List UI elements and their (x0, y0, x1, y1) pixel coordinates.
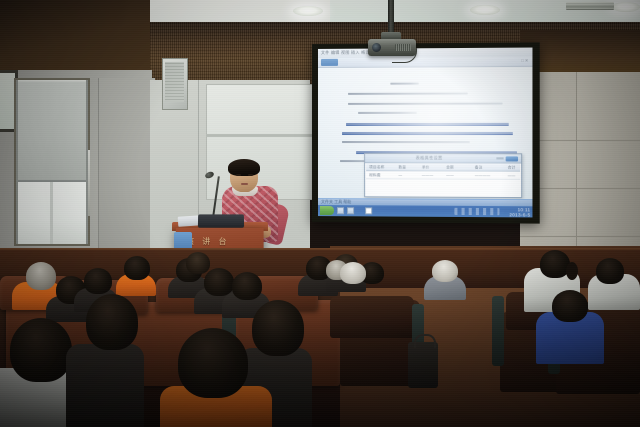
dialog-ok-button[interactable] (506, 156, 518, 162)
document-text-line (342, 141, 470, 144)
table-cell: 材料费 (369, 173, 380, 178)
attendee-head (340, 262, 366, 284)
document-toolbar[interactable] (318, 57, 532, 68)
table-cell: —— (508, 173, 516, 177)
laptop[interactable] (198, 214, 244, 227)
system-tray-icons[interactable] (454, 208, 499, 215)
downlight-icon (470, 5, 500, 15)
foreground-attendee-head (178, 328, 248, 398)
presenter-eye (248, 174, 253, 176)
foreground-attendee-head (10, 318, 72, 382)
presenter-mouth (241, 183, 248, 185)
taskbar-clock[interactable]: 10:11 2013-6-5 (509, 207, 530, 217)
attendee-head (84, 268, 112, 294)
taskbar-strip-label: 文件夹 工具 帮助 (321, 199, 351, 205)
left-wall-panel-secondary (98, 78, 155, 263)
wall-seam (576, 72, 577, 272)
attendee-head (186, 252, 210, 274)
projector-lens-icon (372, 43, 381, 52)
roller-blind[interactable] (18, 82, 86, 182)
foreground-attendee-head (252, 300, 304, 356)
table-col-header: 金额 (446, 165, 454, 170)
whiteboard-rail (206, 134, 314, 137)
attendee-head (204, 268, 234, 296)
attendee-ponytail (566, 262, 578, 280)
dialog-title: 表格属性设置 (416, 155, 443, 161)
table-properties-dialog[interactable]: 表格属性设置 项目名称 数量 单价 金额 备注 合计 材料费 — ——— —— … (364, 153, 522, 198)
document-text-line (358, 112, 417, 114)
attendee-head (552, 290, 588, 322)
table-cell: ———— (475, 173, 491, 177)
air-vent-icon (566, 2, 614, 10)
window-mullion (50, 182, 53, 244)
foreground-attendee-shoulders (66, 344, 144, 427)
presenter-hair (228, 159, 260, 176)
blind-cord[interactable] (88, 150, 90, 216)
handbag-strap (414, 334, 436, 348)
auditorium-seat[interactable] (330, 296, 414, 338)
document-text-line (346, 123, 509, 127)
wall-seam (520, 236, 640, 237)
attendee-head (232, 272, 262, 300)
table-col-header: 数量 (398, 165, 406, 170)
lecture-hall-photo: 文件 编辑 视图 插入 格式 工具 □ ✕ 表格属性设置 项目名称 数量 (0, 0, 640, 427)
whiteboard (206, 84, 314, 200)
start-button[interactable] (320, 206, 334, 215)
attendee-head (596, 258, 624, 284)
table-col-header: 单价 (422, 165, 430, 170)
projector-mount-pole (388, 0, 394, 34)
presenter-eye (236, 174, 241, 176)
seat-armrest (492, 296, 504, 366)
downlight-icon (293, 6, 323, 16)
attendee-head (124, 256, 150, 280)
document-active-tab[interactable] (321, 59, 338, 66)
table-col-header: 项目名称 (369, 165, 384, 170)
handbag (408, 342, 438, 388)
table-row[interactable] (366, 171, 520, 180)
attendee-head (432, 260, 458, 282)
projected-image: 文件 编辑 视图 插入 格式 工具 □ ✕ 表格属性设置 项目名称 数量 (318, 48, 532, 218)
document-text-line (348, 93, 468, 96)
table-cell: — (398, 173, 402, 177)
quicklaunch-icon[interactable] (347, 207, 354, 214)
table-cell: ——— (422, 173, 434, 177)
table-col-header: 合计 (508, 165, 516, 170)
window-controls[interactable]: □ ✕ (521, 58, 528, 63)
projection-screen: 文件 编辑 视图 插入 格式 工具 □ ✕ 表格属性设置 项目名称 数量 (312, 42, 540, 223)
speaker-grille-icon (165, 62, 184, 102)
clock-date: 2013-6-5 (509, 212, 530, 217)
podium-label: 演 讲 台 (186, 236, 260, 247)
foreground-attendee-head (86, 294, 138, 350)
taskbar-window-button[interactable] (365, 207, 372, 214)
table-col-header: 备注 (475, 165, 483, 170)
document-text-line (342, 132, 513, 135)
taskbar[interactable]: 文件夹 工具 帮助 10:11 2013-6-5 (318, 198, 532, 217)
downlight-icon (612, 2, 640, 12)
attendee-head (26, 262, 56, 290)
table-cell: —— (446, 173, 454, 177)
dialog-secondary-button[interactable] (496, 157, 503, 159)
document-text-line (390, 83, 418, 86)
document-text-line (348, 103, 503, 106)
quicklaunch-icon[interactable] (337, 207, 344, 214)
